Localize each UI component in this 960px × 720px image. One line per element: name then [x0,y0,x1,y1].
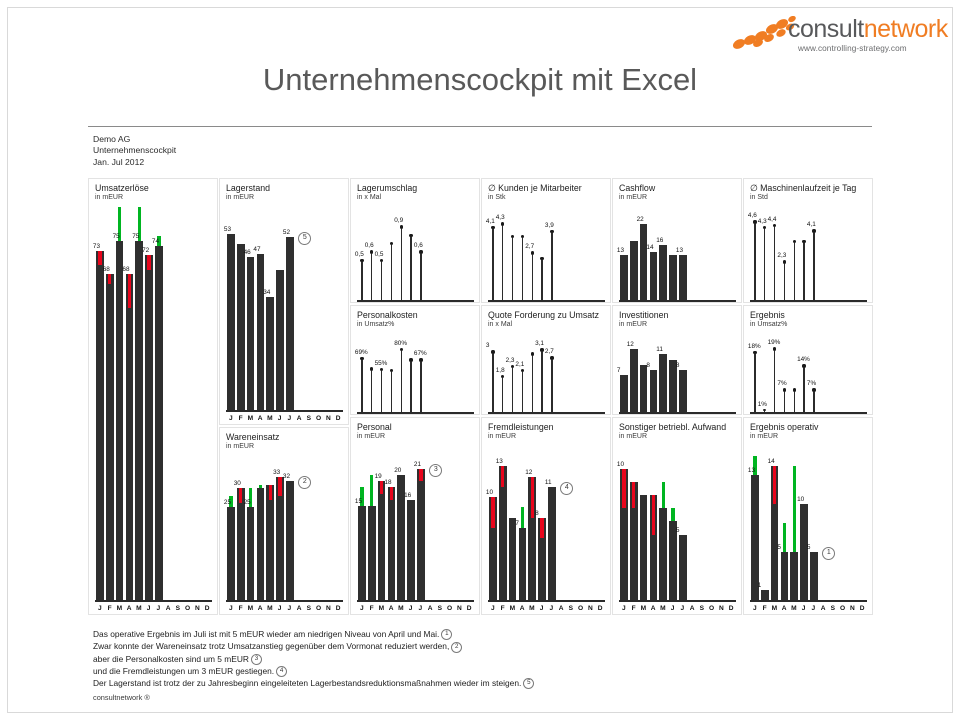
month-label: D [464,605,474,612]
variance-positive [370,475,373,506]
month-label: J [678,605,688,612]
bar [790,552,798,600]
data-point[interactable] [510,365,515,412]
value-label: 2,3 [777,252,786,259]
data-point[interactable] [106,274,114,600]
data-point[interactable] [407,500,415,600]
data-point[interactable] [116,241,124,600]
panel-subtitle: in mEUR [226,194,254,201]
month-label: A [255,605,265,612]
month-label: O [838,605,848,612]
month-label: S [566,605,576,612]
panel-title: Personal [357,422,392,432]
stem-line [532,255,533,300]
data-point[interactable] [509,518,517,600]
value-label: 7 [515,520,519,527]
bar [659,245,667,300]
month-label: J [416,605,426,612]
data-point[interactable] [227,234,235,410]
value-label: 69% [355,349,368,356]
value-label: 18 [384,479,391,486]
value-label: 25 [224,499,231,506]
month-label: D [857,605,867,612]
note-marker-5: 5 [523,678,534,689]
data-point[interactable] [247,507,255,600]
variance-positive [662,482,665,508]
data-point[interactable] [630,241,638,300]
x-axis [488,300,605,302]
variance-positive [521,507,524,528]
data-point[interactable] [761,590,769,600]
report-subtitle: Unternehmenscockpit [93,145,176,156]
panel-kunden-je-mitarbeiter[interactable]: ∅ Kunden je Mitarbeiterin Stk4,14,32,73,… [481,178,611,303]
data-point[interactable] [500,222,505,300]
panel-cashflow[interactable]: Cashflowin mEUR1322141613 [612,178,742,303]
data-point[interactable] [510,235,515,300]
value-label: 13 [676,247,683,254]
x-axis [226,600,343,602]
month-label: A [556,605,566,612]
panel-subtitle: in Std [750,194,768,201]
data-point[interactable] [548,487,556,600]
panel-subtitle: in x Mal [488,321,512,328]
plot-area: 1322141613 [619,205,736,302]
panel-wareneinsatz[interactable]: Wareneinsatzin mEUR25302533322JFMAMJJASO… [219,427,349,615]
month-label: F [236,605,246,612]
month-label: A [779,605,789,612]
month-label: N [324,415,334,422]
plot-area: 4,14,32,73,9 [488,205,605,302]
data-point[interactable] [530,251,535,300]
data-point[interactable] [389,242,394,300]
stem-line [512,238,513,300]
data-point[interactable] [811,229,816,300]
bar [247,507,255,600]
month-label: A [255,415,265,422]
month-label: A [124,605,134,612]
data-point[interactable] [640,224,648,300]
stem-line [361,262,362,300]
month-label: A [425,605,435,612]
data-point[interactable] [781,552,789,600]
note-marker-2: 2 [451,642,462,653]
bar [155,246,163,600]
value-label: 11 [656,346,663,353]
month-label: A [386,605,396,612]
month-axis-labels: JFMAMJJASOND [226,415,343,422]
bar [630,349,638,412]
month-label: J [154,605,164,612]
x-axis [488,600,605,602]
month-label: M [377,605,387,612]
x-axis [750,412,867,414]
value-label: 0,5 [355,251,364,258]
data-point[interactable] [752,220,757,300]
data-point[interactable] [762,226,767,300]
data-point[interactable] [782,388,787,412]
data-point[interactable] [276,270,284,410]
data-point[interactable] [540,348,545,412]
stem-line [794,392,795,412]
month-label: J [488,605,498,612]
data-point[interactable] [359,357,364,412]
month-label: J [226,415,236,422]
value-label: 3 [486,342,490,349]
month-label: S [304,415,314,422]
data-point[interactable] [811,388,816,412]
data-point[interactable] [549,230,554,300]
stem-line [502,378,503,412]
data-point[interactable] [490,350,495,412]
value-label: 13 [617,247,624,254]
data-point[interactable] [752,351,757,412]
bar [378,481,386,600]
data-point[interactable] [620,375,628,412]
reference-marker-3[interactable]: 3 [429,464,442,477]
data-point[interactable] [389,369,394,412]
panel-title: ∅ Kunden je Mitarbeiter [488,183,582,194]
panel-investitionen[interactable]: Investitionenin mEUR7128118 [612,305,742,415]
reference-marker-4[interactable]: 4 [560,482,573,495]
value-label: 7 [617,367,621,374]
panel-lagerumschlag[interactable]: Lagerumschlagin x Mal0,50,60,50,90,6 [350,178,480,303]
month-axis-labels: JFMAMJJASOND [619,605,736,612]
data-point[interactable] [540,257,545,300]
note-line: aber die Personalkosten sind um 5 mEUR3 [93,653,534,665]
value-label: 2,7 [525,243,534,250]
panel-subtitle: in mEUR [750,433,778,440]
value-label: 12 [525,469,532,476]
note-marker-4: 4 [276,666,287,677]
month-label: J [799,605,809,612]
data-point[interactable] [751,475,759,600]
variance-negative [269,485,272,500]
bar [751,475,759,600]
panel-ergebnis-operativ[interactable]: Ergebnis operativin mEUR1311451051JFMAMJ… [743,417,873,615]
stem-line [803,243,804,300]
panel-subtitle: in x Mal [357,194,381,201]
panel-title: Personalkosten [357,310,418,320]
report-period: Jan. Jul 2012 [93,157,176,168]
month-axis-labels: JFMAMJJASOND [226,605,343,612]
data-point[interactable] [802,364,807,412]
value-label: 14% [797,356,810,363]
panel-subtitle: in mEUR [95,194,123,201]
stem-line [410,362,411,412]
panel-subtitle: in mEUR [357,433,385,440]
data-point[interactable] [418,250,423,300]
data-point[interactable] [772,224,777,300]
value-label: 4,1 [807,221,816,228]
bar [227,507,235,600]
data-point[interactable] [800,504,808,600]
bar [237,244,245,410]
note-line: Zwar konnte der Wareneinsatz trotz Umsat… [93,640,534,652]
month-label: O [183,605,193,612]
data-point[interactable] [247,257,255,410]
data-point[interactable] [772,347,777,412]
data-point[interactable] [257,488,265,600]
month-label: J [406,605,416,612]
bar [659,354,667,412]
stem-line [774,351,775,412]
month-label: S [828,605,838,612]
data-point[interactable] [237,244,245,410]
data-point[interactable] [379,259,384,301]
data-point[interactable] [359,259,364,301]
bar [407,500,415,600]
month-label: A [687,605,697,612]
month-label: J [275,415,285,422]
data-point[interactable] [679,370,687,412]
variance-negative [390,487,393,500]
panel-quote-forderung-zu-umsatz[interactable]: Quote Forderung zu Umsatzin x Mal31,82,3… [481,305,611,415]
data-point[interactable] [500,375,505,412]
x-axis [357,600,474,602]
data-point[interactable] [96,251,104,600]
reference-marker-2[interactable]: 2 [298,476,311,489]
panel-title: Ergebnis [750,310,785,320]
variance-negative [531,477,534,518]
data-point[interactable] [369,367,374,412]
consultnetwork-logo: consultnetwork www.controlling-strategy.… [732,14,938,58]
data-point[interactable] [145,255,153,600]
value-label: 5 [676,527,680,534]
month-label: N [455,605,465,612]
panel-subtitle: in Stk [488,194,506,201]
month-label: J [809,605,819,612]
panel-sonstiger-betriebl-aufwand[interactable]: Sonstiger betriebl. Aufwandin mEUR105JFM… [612,417,742,615]
month-label: M [508,605,518,612]
data-point[interactable] [520,235,525,300]
panel-subtitle: in mEUR [488,433,516,440]
plot-area: 1311451051 [750,444,867,602]
month-label: J [537,605,547,612]
value-label: 3,1 [535,340,544,347]
month-label: A [163,605,173,612]
panel-title: Investitionen [619,310,668,320]
month-label: F [498,605,508,612]
x-axis [750,300,867,302]
plot-area: 25302533322 [226,454,343,602]
value-label: 55% [375,360,388,367]
value-label: 8 [676,362,680,369]
reference-marker-5[interactable]: 5 [298,232,311,245]
panel-title: Sonstiger betriebl. Aufwand [619,422,726,432]
month-label: A [294,605,304,612]
data-point[interactable] [792,388,797,412]
data-point[interactable] [379,368,384,412]
stem-line [541,260,542,300]
data-point[interactable] [792,239,797,300]
data-point[interactable] [155,246,163,600]
data-point[interactable] [519,528,527,600]
panel-maschinenlaufzeit[interactable]: ∅ Maschinenlaufzeit je Tagin Std4,64,34,… [743,178,873,303]
value-label: 10 [617,461,624,468]
x-axis [95,600,212,602]
value-label: 4,3 [496,214,505,221]
data-point[interactable] [266,485,274,600]
value-label: 33 [273,469,280,476]
stem-line [512,368,513,412]
data-point[interactable] [802,239,807,300]
month-label: J [275,605,285,612]
month-label: M [770,605,780,612]
panel-title: ∅ Maschinenlaufzeit je Tag [750,183,856,194]
stem-line [813,392,814,412]
stem-line [532,356,533,412]
data-point[interactable] [679,535,687,600]
data-point[interactable] [490,226,495,300]
data-point[interactable] [368,506,376,600]
data-point[interactable] [418,358,423,412]
month-label: A [818,605,828,612]
reference-marker-1[interactable]: 1 [822,547,835,560]
data-point[interactable] [762,409,767,412]
month-label: D [726,605,736,612]
panel-umsatzerloese[interactable]: Umsatzerlösein mEUR73687568757274JFMAMJJ… [88,178,218,615]
panel-lagerstand[interactable]: Lagerstandin mEUR53464734525JFMAMJJASOND [219,178,349,425]
x-axis [488,412,605,414]
month-label: J [668,605,678,612]
bar [286,237,294,410]
stem-line [371,371,372,412]
data-point[interactable] [650,370,658,412]
variance-positive [259,485,262,489]
value-label: 13 [748,467,755,474]
panel-title: Wareneinsatz [226,432,279,442]
data-point[interactable] [810,552,818,600]
stem-line [813,233,814,300]
data-point[interactable] [409,358,414,412]
value-label: 2,1 [515,361,524,368]
data-point[interactable] [659,354,667,412]
bar [135,241,143,600]
data-point[interactable] [549,356,554,412]
value-label: 0,6 [414,242,423,249]
note-text: aber die Personalkosten sind um 5 mEUR [93,654,249,664]
month-label: D [333,415,343,422]
data-point[interactable] [257,254,265,410]
bar [650,252,658,300]
value-label: 80% [394,340,407,347]
data-point[interactable] [286,237,294,410]
value-label: 16 [404,492,411,499]
data-point[interactable] [782,260,787,300]
value-label: 46 [244,249,251,256]
stem-line [551,360,552,412]
value-label: 32 [283,473,290,480]
bar [640,495,648,600]
bar [679,370,687,412]
month-label: J [285,415,295,422]
data-point[interactable] [679,255,687,300]
data-point[interactable] [388,487,396,600]
value-label: 4,3 [758,218,767,225]
data-point[interactable] [659,508,667,600]
data-point[interactable] [417,469,425,600]
bar [266,485,274,600]
data-point[interactable] [369,250,374,300]
value-label: 0,9 [394,217,403,224]
panel-personal[interactable]: Personalin mEUR1519182016213JFMAMJJASOND [350,417,480,615]
data-point[interactable] [266,297,274,410]
data-point[interactable] [399,348,404,412]
data-point[interactable] [520,369,525,412]
x-axis [226,410,343,412]
value-label: 14 [768,458,775,465]
bar [116,241,124,600]
bar [247,257,255,410]
panel-fremdleistungen[interactable]: Fremdleistungenin mEUR10137128114JFMAMJJ… [481,417,611,615]
month-label: N [193,605,203,612]
data-point[interactable] [650,252,658,300]
data-point[interactable] [530,352,535,412]
bar [679,255,687,300]
data-point[interactable] [378,481,386,600]
value-label: 1% [758,401,767,408]
panel-subtitle: in mEUR [619,321,647,328]
data-point[interactable] [358,506,366,600]
month-label: S [173,605,183,612]
bar [368,506,376,600]
data-point[interactable] [227,507,235,600]
value-label: 5 [807,544,811,551]
stem-line [784,264,785,300]
panel-title: Quote Forderung zu Umsatz [488,310,599,320]
bar [286,481,294,600]
panel-title: Cashflow [619,183,655,193]
value-label: 10 [486,489,493,496]
data-point[interactable] [640,495,648,600]
data-point[interactable] [669,255,677,300]
data-point[interactable] [659,245,667,300]
stem-line [381,262,382,300]
value-label: 30 [234,480,241,487]
data-point[interactable] [399,225,404,300]
data-point[interactable] [135,241,143,600]
variance-negative [652,495,655,534]
panel-subtitle: in Umsatz% [357,321,394,328]
value-label: 68 [122,266,129,273]
data-point[interactable] [620,255,628,300]
panel-personalkosten[interactable]: Personalkostenin Umsatz%69%55%80%67% [350,305,480,415]
month-label: M [527,605,537,612]
data-point[interactable] [630,349,638,412]
panel-ergebnis[interactable]: Ergebnisin Umsatz%18%1%19%7%14%7% [743,305,873,415]
value-label: 7% [777,380,786,387]
bar [266,297,274,410]
logo-word-network: network [864,15,948,43]
variance-negative [239,488,242,503]
month-label: D [333,605,343,612]
slide: consultnetwork www.controlling-strategy.… [0,0,960,720]
data-point[interactable] [790,552,798,600]
value-label: 4,4 [768,216,777,223]
data-point[interactable] [409,234,414,300]
variance-negative [632,482,635,508]
data-point[interactable] [286,481,294,600]
data-point[interactable] [640,365,648,412]
sheet-top-rule [88,126,872,127]
logo-wordmark: consultnetwork [788,16,948,42]
data-point[interactable] [126,274,134,600]
variance-positive [671,508,674,521]
variance-negative [128,274,131,308]
variance-negative [147,255,150,269]
value-label: 74 [152,238,159,245]
bar [96,251,104,600]
